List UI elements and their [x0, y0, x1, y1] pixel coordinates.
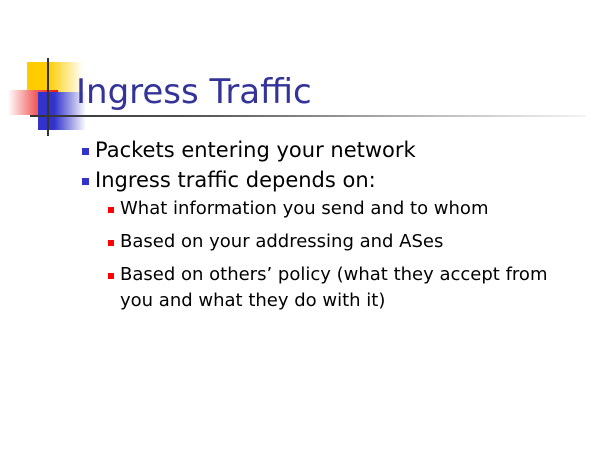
- bullet-square-icon: [82, 148, 89, 155]
- sub-bullet-item: Based on your addressing and ASes: [0, 229, 600, 255]
- sub-bullet-item: Based on others’ policy (what they accep…: [0, 262, 600, 314]
- sub-bullet-text: Based on others’ policy (what they accep…: [120, 262, 572, 314]
- sub-bullet-square-icon: [108, 207, 114, 213]
- slide-body: Packets entering your network Ingress tr…: [0, 136, 600, 321]
- bullet-item: Ingress traffic depends on:: [0, 166, 600, 195]
- title-underline-rule: [30, 115, 586, 117]
- bullet-square-icon: [82, 178, 89, 185]
- slide: Ingress Traffic Packets entering your ne…: [0, 0, 600, 450]
- logo-red-block-icon: [8, 90, 58, 115]
- bullet-text: Packets entering your network: [95, 136, 555, 165]
- sub-bullet-item: What information you send and to whom: [0, 196, 600, 222]
- sub-bullet-square-icon: [108, 273, 114, 279]
- logo-vertical-line-icon: [47, 58, 49, 136]
- slide-title: Ingress Traffic: [76, 72, 312, 112]
- bullet-item: Packets entering your network: [0, 136, 600, 165]
- sub-bullet-text: What information you send and to whom: [120, 196, 572, 222]
- bullet-text: Ingress traffic depends on:: [95, 166, 555, 195]
- sub-bullet-text: Based on your addressing and ASes: [120, 229, 572, 255]
- logo-yellow-block-icon: [27, 62, 83, 92]
- sub-bullet-square-icon: [108, 240, 114, 246]
